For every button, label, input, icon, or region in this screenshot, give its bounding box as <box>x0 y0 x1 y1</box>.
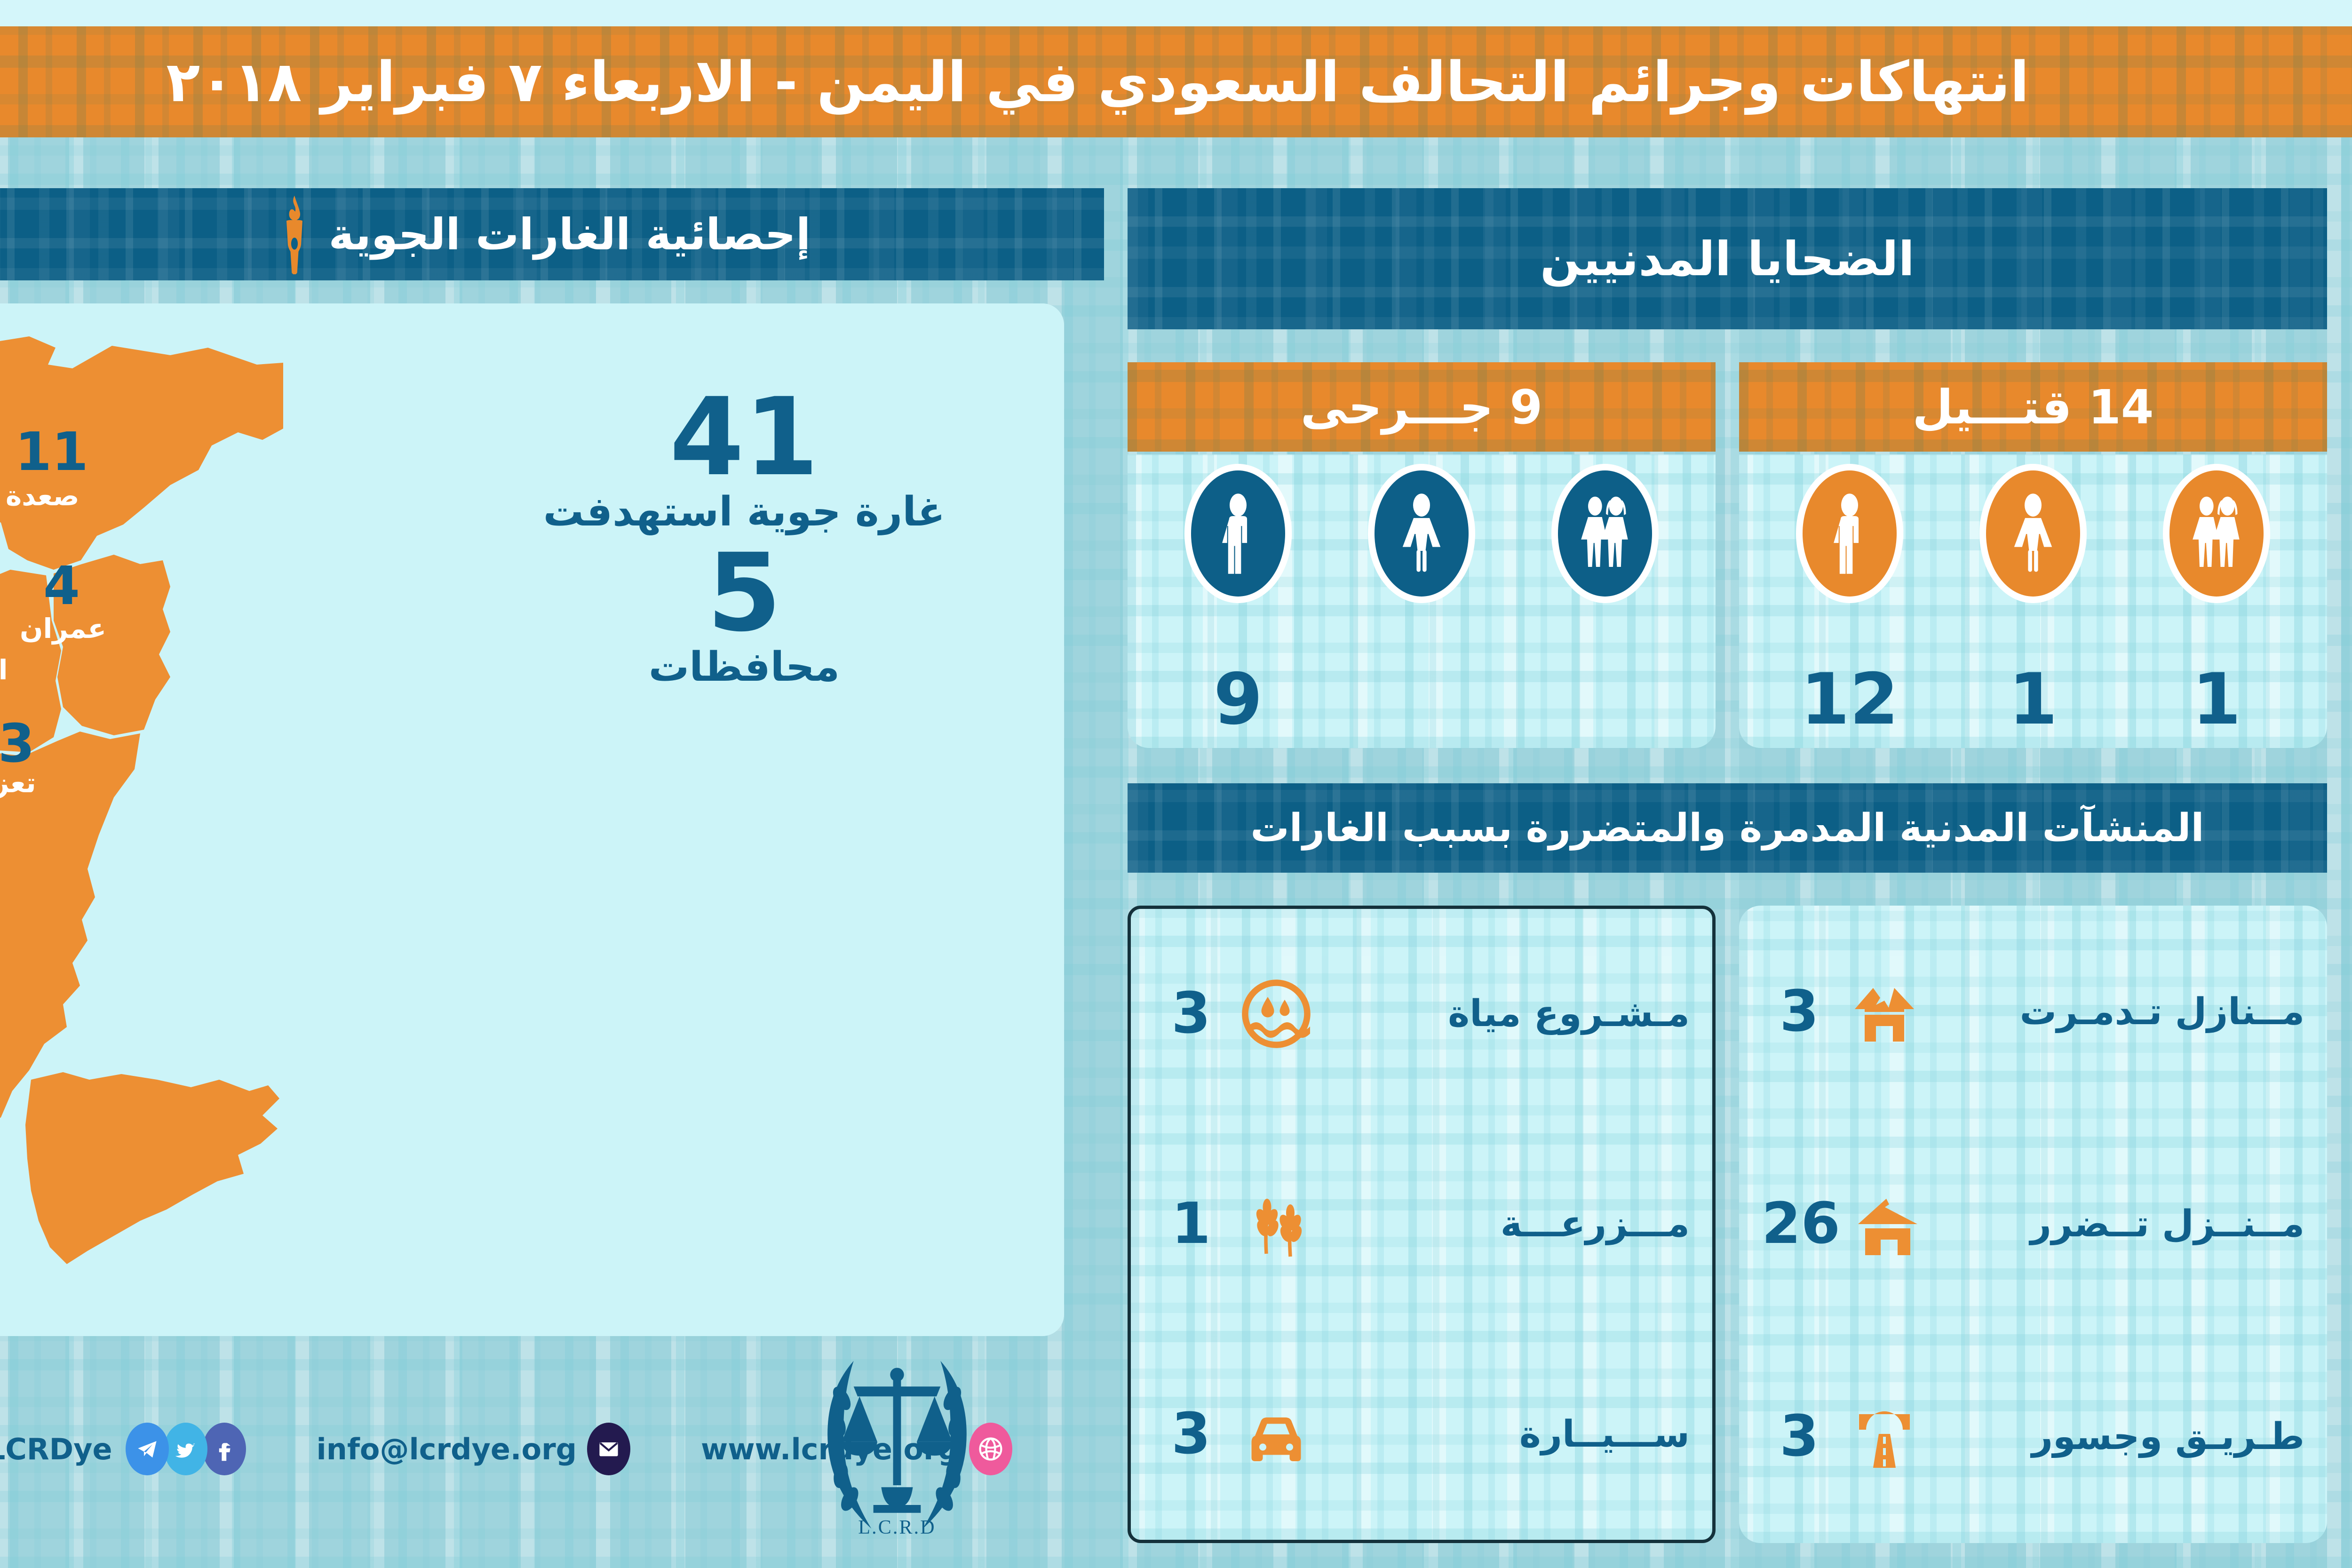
facility-label-water: مـشـروع مياة <box>1324 993 1690 1035</box>
facility-row-car: ســـيــارة 3 <box>1131 1329 1712 1540</box>
map-name-saada: صعدة <box>6 482 79 509</box>
map-count-amran: 4 <box>43 560 80 613</box>
facility-count-car: 3 <box>1153 1406 1229 1463</box>
social-handle-text: @LCRDye <box>0 1432 112 1466</box>
social-contact[interactable]: @LCRDye <box>0 1423 246 1475</box>
victims-section-header: الضحايا المدنيين <box>1128 188 2327 329</box>
killed-children-cell: 1 <box>2125 470 2308 735</box>
facility-label-car: ســـيــارة <box>1324 1413 1690 1456</box>
facebook-icon[interactable] <box>203 1423 246 1475</box>
governorates-caption: محافظات <box>481 644 1008 691</box>
facility-count-farm: 1 <box>1153 1196 1229 1252</box>
bomb-flame-icon <box>273 194 316 274</box>
man-icon <box>1191 470 1285 597</box>
wounded-body: 0 0 <box>1128 454 1716 748</box>
facilities-right-panel: مــنازل تـدمـرت 3 مــنــزل تــضرر 26 طـر… <box>1739 906 2327 1543</box>
email-text: info@lcrdye.org <box>317 1432 577 1466</box>
road-bridge-icon <box>1849 1401 1920 1472</box>
title-bar: انتهاكات وجرائم التحالف السعودي في اليمن… <box>0 26 2352 137</box>
killed-men-cell: 12 <box>1758 470 1941 735</box>
telegram-icon[interactable] <box>126 1423 169 1475</box>
facility-count-destroyed-homes: 3 <box>1762 984 1837 1040</box>
facility-label-destroyed-homes: مــنازل تـدمـرت <box>1932 991 2304 1033</box>
woman-icon <box>1986 470 2080 597</box>
yemen-map: 11 صعدة 4 عمران 7 حجة 16 الحديدة 3 تعز <box>0 327 396 1310</box>
page-title: انتهاكات وجرائم التحالف السعودي في اليمن… <box>166 54 2029 110</box>
water-project-icon <box>1241 979 1311 1049</box>
facility-row-damaged-homes: مــنــزل تــضرر 26 <box>1739 1118 2327 1331</box>
mail-icon <box>587 1423 630 1475</box>
facilities-left-panel: مـشـروع مياة 3 مـــزرعـــة <box>1128 906 1716 1543</box>
infographic-page: انتهاكات وجرائم التحالف السعودي في اليمن… <box>0 0 2352 1568</box>
wounded-count: 9 <box>1510 380 1543 435</box>
killed-women-count: 1 <box>2009 664 2058 735</box>
man-icon <box>1803 470 1897 597</box>
victims-section-title: الضحايا المدنيين <box>1540 231 1915 287</box>
airstrikes-card: 11 صعدة 4 عمران 7 حجة 16 الحديدة 3 تعز 4… <box>0 303 1064 1336</box>
facility-count-roads: 3 <box>1762 1409 1837 1465</box>
wheat-farm-icon <box>1241 1189 1311 1259</box>
governorates-count: 5 <box>481 544 1008 643</box>
killed-women-cell: 1 <box>1941 470 2125 735</box>
facility-count-water: 3 <box>1153 986 1229 1042</box>
facility-count-damaged-homes: 26 <box>1762 1196 1840 1252</box>
damaged-house-icon <box>1852 1189 1923 1259</box>
facility-row-water: مـشـروع مياة 3 <box>1131 909 1712 1119</box>
map-count-hudaydah: 16 <box>0 605 1 657</box>
killed-count: 14 <box>2088 380 2153 435</box>
twitter-icon[interactable] <box>164 1423 207 1475</box>
killed-banner-text: 14 قتـــيل <box>1913 380 2154 435</box>
facility-label-roads: طـريـق وجسور <box>1932 1416 2304 1458</box>
map-count-taiz: 3 <box>0 717 35 770</box>
wounded-banner-text: 9 جـــرحى <box>1301 380 1542 435</box>
children-icon <box>1558 470 1652 597</box>
destroyed-house-icon <box>1849 977 1920 1047</box>
airstrikes-section-header: إحصائية الغارات الجوية <box>0 188 1104 280</box>
facility-row-destroyed-homes: مــنازل تـدمـرت 3 <box>1739 906 2327 1118</box>
killed-body: 1 1 <box>1739 454 2327 748</box>
killed-children-count: 1 <box>2192 664 2241 735</box>
airstrike-stats: 41 غارة جوية استهدفت 5 محافظات <box>481 388 1008 691</box>
strikes-caption: غارة جوية استهدفت <box>481 489 1008 535</box>
car-icon <box>1241 1399 1311 1470</box>
logo-text: L.C.R.D <box>858 1517 936 1538</box>
wounded-label: جـــرحى <box>1301 380 1494 435</box>
map-name-amran: عمران <box>20 615 106 642</box>
strikes-count: 41 <box>481 388 1008 487</box>
wounded-men-cell: 9 <box>1146 470 1330 735</box>
facility-row-roads: طـريـق وجسور 3 <box>1739 1330 2327 1543</box>
lcrd-logo: L.C.R.D <box>798 1343 996 1545</box>
killed-banner: 14 قتـــيل <box>1739 362 2327 452</box>
woman-icon <box>1375 470 1469 597</box>
facility-label-farm: مـــزرعـــة <box>1324 1203 1690 1245</box>
map-name-hudaydah: الحديدة <box>0 656 8 684</box>
killed-label: قتـــيل <box>1913 380 2072 435</box>
map-count-saada: 11 <box>15 426 88 478</box>
wounded-banner: 9 جـــرحى <box>1128 362 1716 452</box>
wounded-children-cell: 0 <box>1513 470 1697 735</box>
facilities-section-title: المنشآت المدنية المدمرة والمتضررة بسبب ا… <box>1250 806 2204 851</box>
airstrikes-section-title: إحصائية الغارات الجوية <box>329 209 811 260</box>
email-contact[interactable]: info@lcrdye.org <box>317 1423 631 1475</box>
wounded-panel: 9 جـــرحى <box>1128 362 1716 748</box>
wounded-women-cell: 0 <box>1330 470 1513 735</box>
facility-row-farm: مـــزرعـــة <box>1131 1119 1712 1329</box>
map-name-taiz: تعز <box>0 769 36 796</box>
children-icon <box>2169 470 2264 597</box>
facility-label-damaged-homes: مــنــزل تــضرر <box>1935 1203 2304 1245</box>
killed-panel: 14 قتـــيل <box>1739 362 2327 748</box>
wounded-men-count: 9 <box>1214 664 1263 735</box>
facilities-section-header: المنشآت المدنية المدمرة والمتضررة بسبب ا… <box>1128 783 2327 873</box>
killed-men-count: 12 <box>1801 664 1899 735</box>
